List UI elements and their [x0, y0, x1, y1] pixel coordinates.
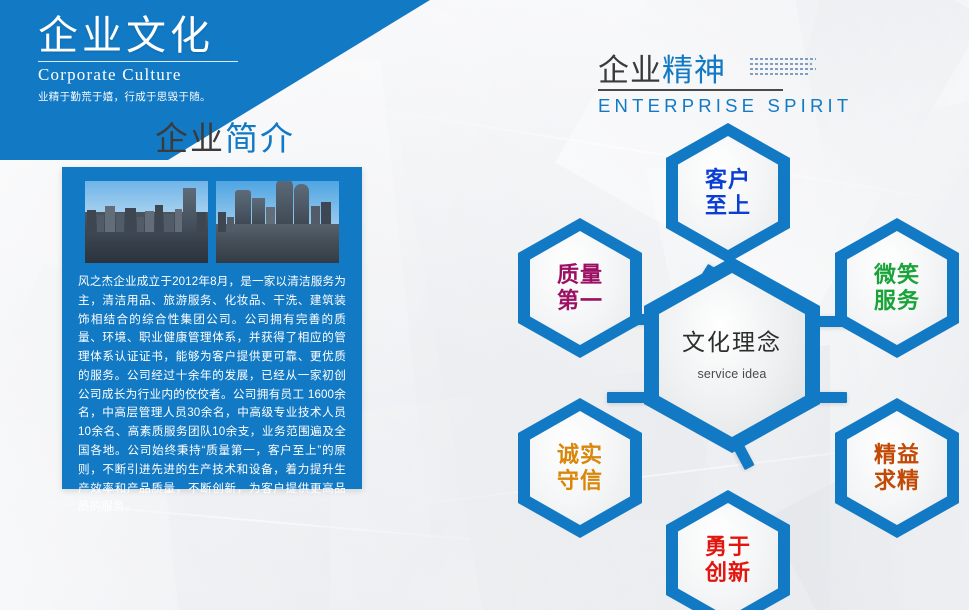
hex-label-line1: 质量	[557, 262, 603, 288]
hex-center-label-en: service idea	[682, 367, 782, 382]
spirit-title-en: ENTERPRISE SPIRIT	[598, 95, 852, 117]
banner-subtitle-en: Corporate Culture	[38, 65, 338, 85]
hex-label-line2: 第一	[557, 288, 603, 314]
spirit-section-heading: 企业精神 ENTERPRISE SPIRIT	[598, 54, 852, 117]
hex-node-integrity[interactable]: 诚实 守信	[518, 398, 642, 538]
hex-label-line1: 精益	[874, 442, 920, 468]
hex-label-line2: 服务	[874, 288, 920, 314]
hex-label-line2: 创新	[705, 560, 751, 586]
hex-label-line2: 守信	[557, 468, 603, 494]
spirit-title-blue: 精神	[662, 53, 726, 88]
intro-photo-gallery	[85, 181, 339, 263]
culture-hexagon-cluster: 文化理念 service idea 客户 至上 微笑 服务	[495, 100, 969, 610]
hex-node-innovation[interactable]: 勇于 创新	[666, 490, 790, 610]
city-skyline-photo-2	[216, 181, 339, 263]
hex-node-label: 客户 至上	[705, 167, 751, 218]
hex-node-label: 质量 第一	[557, 262, 603, 313]
hex-node-quality-first[interactable]: 质量 第一	[518, 218, 642, 358]
city-skyline-photo-1	[85, 181, 208, 263]
hex-label-line1: 勇于	[705, 534, 751, 560]
hex-center-label-cn: 文化理念	[682, 329, 782, 356]
spirit-title: 企业精神	[598, 54, 726, 88]
intro-title-dark: 企业	[155, 120, 225, 157]
hex-label-line2: 求精	[874, 468, 920, 494]
spirit-title-underline	[598, 89, 783, 91]
hex-node-label: 勇于 创新	[705, 534, 751, 585]
banner-divider	[38, 61, 238, 62]
intro-body-text: 风之杰企业成立于2012年8月，是一家以清洁服务为主，清洁用品、旅游服务、化妆品…	[78, 273, 346, 517]
hex-label-line2: 至上	[705, 193, 751, 219]
hex-center-culture-idea[interactable]: 文化理念 service idea	[644, 257, 820, 453]
photo-ground	[216, 224, 339, 263]
hex-node-customer-first[interactable]: 客户 至上	[666, 123, 790, 263]
hex-node-excellence[interactable]: 精益 求精	[835, 398, 959, 538]
hex-node-label: 精益 求精	[874, 442, 920, 493]
hex-node-smile-service[interactable]: 微笑 服务	[835, 218, 959, 358]
hex-node-label: 微笑 服务	[874, 262, 920, 313]
banner-title: 企业文化	[38, 14, 338, 59]
poster-canvas: 企业文化 Corporate Culture 业精于勤荒于嬉，行成于思毁于随。 …	[0, 0, 969, 610]
decorative-text-block	[750, 58, 816, 78]
hex-center-label: 文化理念 service idea	[682, 329, 782, 381]
intro-card: 风之杰企业成立于2012年8月，是一家以清洁服务为主，清洁用品、旅游服务、化妆品…	[62, 167, 362, 489]
hex-label-line1: 诚实	[557, 442, 603, 468]
hex-node-label: 诚实 守信	[557, 442, 603, 493]
intro-title-blue: 简介	[225, 120, 295, 157]
spirit-title-dark: 企业	[598, 53, 662, 88]
intro-section-title: 企业简介	[155, 112, 295, 160]
hex-label-line1: 客户	[705, 167, 751, 193]
hex-label-line1: 微笑	[874, 262, 920, 288]
